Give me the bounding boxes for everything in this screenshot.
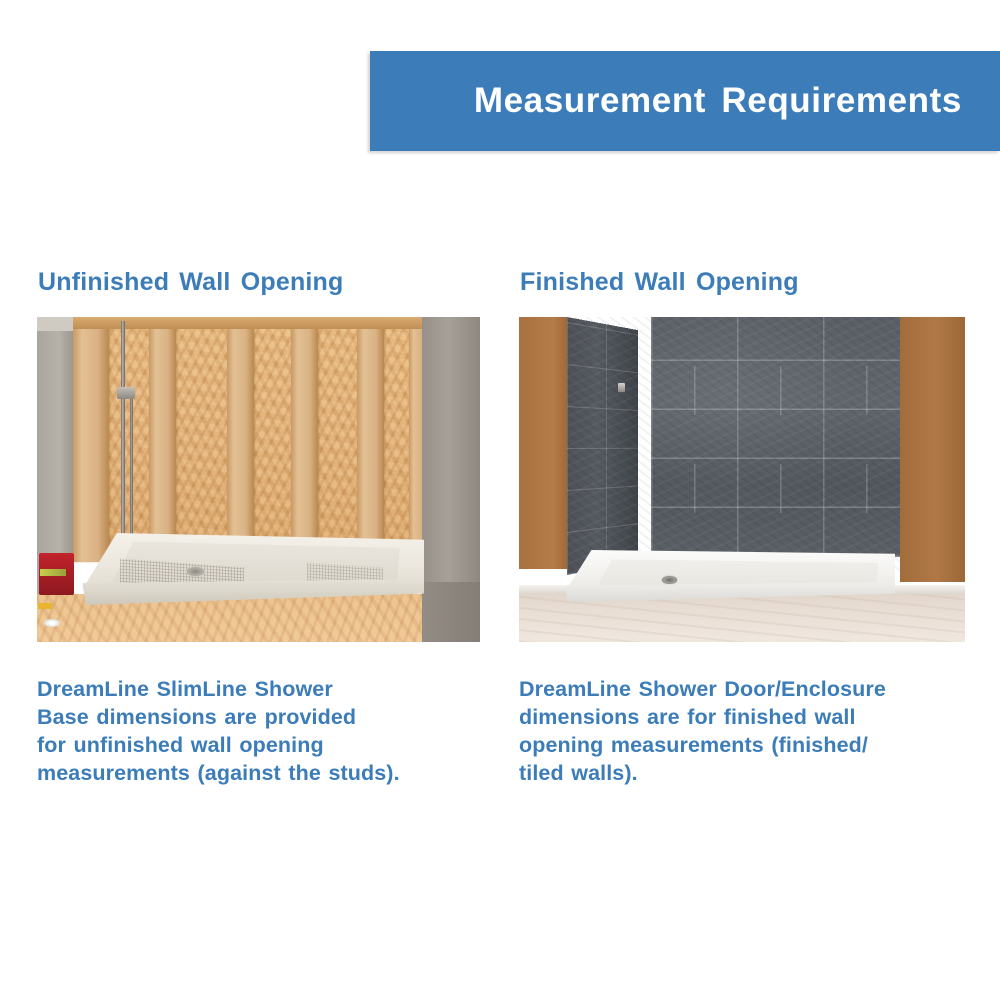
plumbing-pipe — [130, 387, 133, 552]
column-finished: Finished Wall Opening DreamLine Shower D… — [519, 270, 967, 788]
page-title: Measurement Requirements — [370, 81, 962, 121]
caption-finished: DreamLine Shower Door/Enclosure dimensio… — [519, 676, 967, 788]
caption-line: dimensions are for finished wall — [519, 704, 967, 732]
wall-stud — [73, 317, 109, 562]
tile-course-offset — [694, 464, 900, 513]
tile-course-offset — [694, 366, 900, 415]
photo-unfinished-content — [37, 317, 480, 642]
caption-line: Base dimensions are provided — [37, 704, 482, 732]
photo-unfinished-wall-opening — [37, 317, 480, 642]
header-beam — [73, 317, 422, 329]
caption-line: for unfinished wall opening — [37, 732, 482, 760]
shower-base-apron — [79, 579, 424, 605]
caption-unfinished: DreamLine SlimLine Shower Base dimension… — [37, 676, 482, 788]
gray-floor-right — [422, 582, 480, 642]
yellow-tool — [38, 603, 52, 609]
caption-line: opening measurements (finished/ — [519, 732, 967, 760]
gray-wall-right — [422, 317, 480, 619]
toolbox-label — [40, 569, 66, 576]
photo-finished-content — [519, 317, 965, 642]
pipe-fitting — [117, 387, 135, 399]
section-title-unfinished: Unfinished Wall Opening — [38, 270, 482, 295]
tan-wall-left — [519, 317, 567, 569]
slimline-shower-base — [79, 533, 424, 605]
wall-stud — [227, 317, 254, 562]
caption-line: tiled walls). — [519, 760, 967, 788]
wall-stud — [357, 317, 384, 562]
tape-roll — [44, 619, 60, 627]
wall-stud — [291, 317, 318, 562]
header-banner: Measurement Requirements — [370, 51, 1000, 151]
gray-wall-left-top — [37, 317, 73, 331]
tiled-back-wall — [651, 317, 900, 557]
caption-line: DreamLine Shower Door/Enclosure — [519, 676, 967, 704]
caption-line: DreamLine SlimLine Shower — [37, 676, 482, 704]
tan-wall-right — [900, 317, 965, 582]
drain-icon — [661, 575, 678, 585]
drain-icon — [186, 566, 205, 577]
wall-stud — [149, 317, 176, 562]
slimline-shower-base — [565, 550, 895, 602]
photo-finished-wall-opening — [519, 317, 965, 642]
section-title-finished: Finished Wall Opening — [520, 270, 967, 295]
tiled-side-wall — [567, 317, 638, 575]
caption-line: measurements (against the studs). — [37, 760, 482, 788]
column-unfinished: Unfinished Wall Opening — [37, 270, 482, 788]
red-toolbox — [39, 553, 74, 595]
plumbing-pipe — [121, 321, 125, 549]
shower-valve-icon — [618, 383, 625, 392]
